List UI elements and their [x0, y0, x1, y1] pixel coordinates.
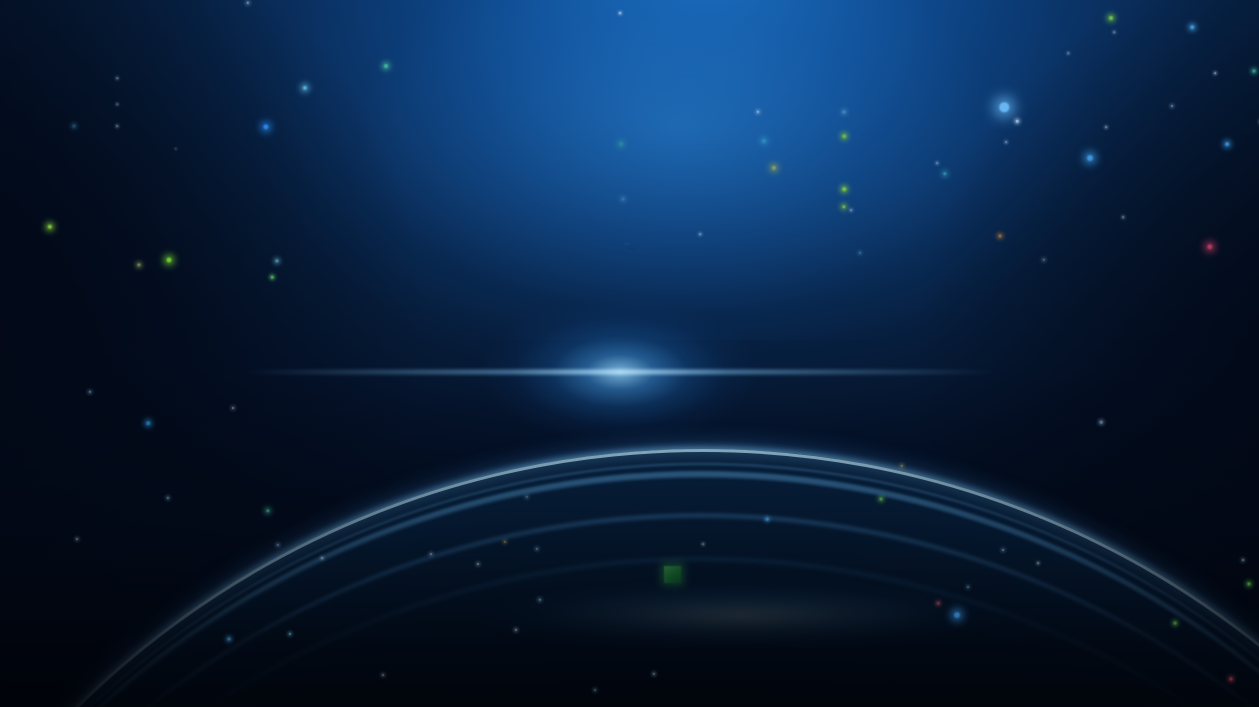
poster-canvas: 《中国网络法治发展报告(2024年)》 专家谈 — [0, 0, 1259, 707]
bottom-vignette — [0, 0, 1259, 707]
